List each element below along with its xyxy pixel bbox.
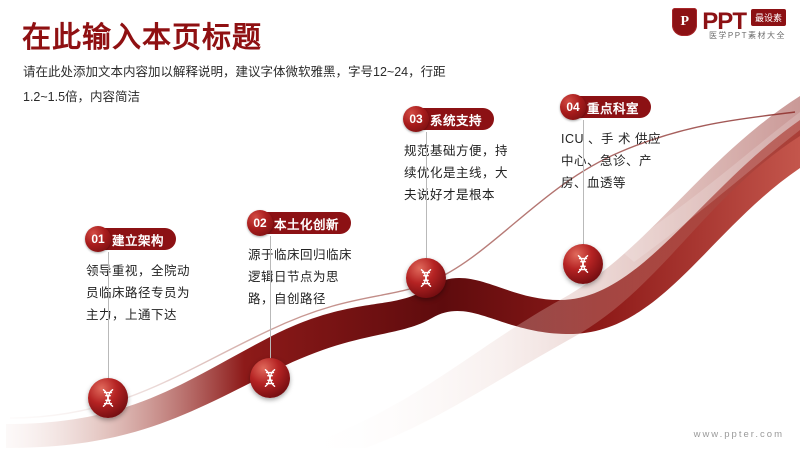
step-03-label: 系统支持	[430, 110, 482, 129]
step-01-badge: 01 建立架构	[86, 228, 176, 250]
dna-icon	[259, 367, 281, 389]
step-04-leader-line	[583, 120, 584, 248]
step-01[interactable]: 01 建立架构 领导重视，全院动员临床路径专员为主力，上通下达	[86, 228, 216, 326]
step-01-text: 领导重视，全院动员临床路径专员为主力，上通下达	[86, 260, 198, 326]
brand-tagline: 医学PPT素材大全	[709, 30, 786, 41]
step-04[interactable]: 04 重点科室 ICU 、手 术 供应中心、急诊、产房、血透等	[561, 96, 701, 194]
step-02-label: 本土化创新	[274, 214, 339, 233]
step-01-bullet[interactable]	[88, 378, 128, 418]
shield-icon: P	[672, 8, 697, 36]
step-03-text: 规范基础方便，持续优化是主线，大夫说好才是根本	[404, 140, 516, 206]
brand-badge-letter: P	[672, 8, 697, 36]
dna-icon	[97, 387, 119, 409]
step-04-number: 04	[560, 94, 586, 120]
dna-icon	[572, 253, 594, 275]
brand-tag: 最设素	[751, 9, 786, 26]
step-03-bullet[interactable]	[406, 258, 446, 298]
step-04-label: 重点科室	[587, 98, 639, 117]
step-02-text: 源于临床回归临床逻辑日节点为思路，自创路径	[248, 244, 360, 310]
step-01-number: 01	[85, 226, 111, 252]
step-03-leader-line	[426, 132, 427, 262]
page-subtitle: 请在此处添加文本内容加以解释说明，建议字体微软雅黑，字号12~24，行距1.2~…	[23, 60, 453, 110]
step-02-leader-line	[270, 236, 271, 361]
watermark: www.ppter.com	[694, 429, 784, 440]
slide-canvas: 在此输入本页标题 请在此处添加文本内容加以解释说明，建议字体微软雅黑，字号12~…	[0, 0, 800, 450]
step-02-badge: 02 本土化创新	[248, 212, 351, 234]
step-03-badge: 03 系统支持	[404, 108, 494, 130]
step-01-leader-line	[108, 252, 109, 382]
step-04-text: ICU 、手 术 供应中心、急诊、产房、血透等	[561, 128, 673, 194]
step-02-bullet[interactable]	[250, 358, 290, 398]
step-03[interactable]: 03 系统支持 规范基础方便，持续优化是主线，大夫说好才是根本	[404, 108, 544, 206]
dna-icon	[415, 267, 437, 289]
step-04-badge: 04 重点科室	[561, 96, 651, 118]
step-03-number: 03	[403, 106, 429, 132]
step-02[interactable]: 02 本土化创新 源于临床回归临床逻辑日节点为思路，自创路径	[248, 212, 388, 310]
page-title: 在此输入本页标题	[22, 14, 262, 56]
step-01-label: 建立架构	[112, 230, 164, 249]
step-04-bullet[interactable]	[563, 244, 603, 284]
step-02-number: 02	[247, 210, 273, 236]
